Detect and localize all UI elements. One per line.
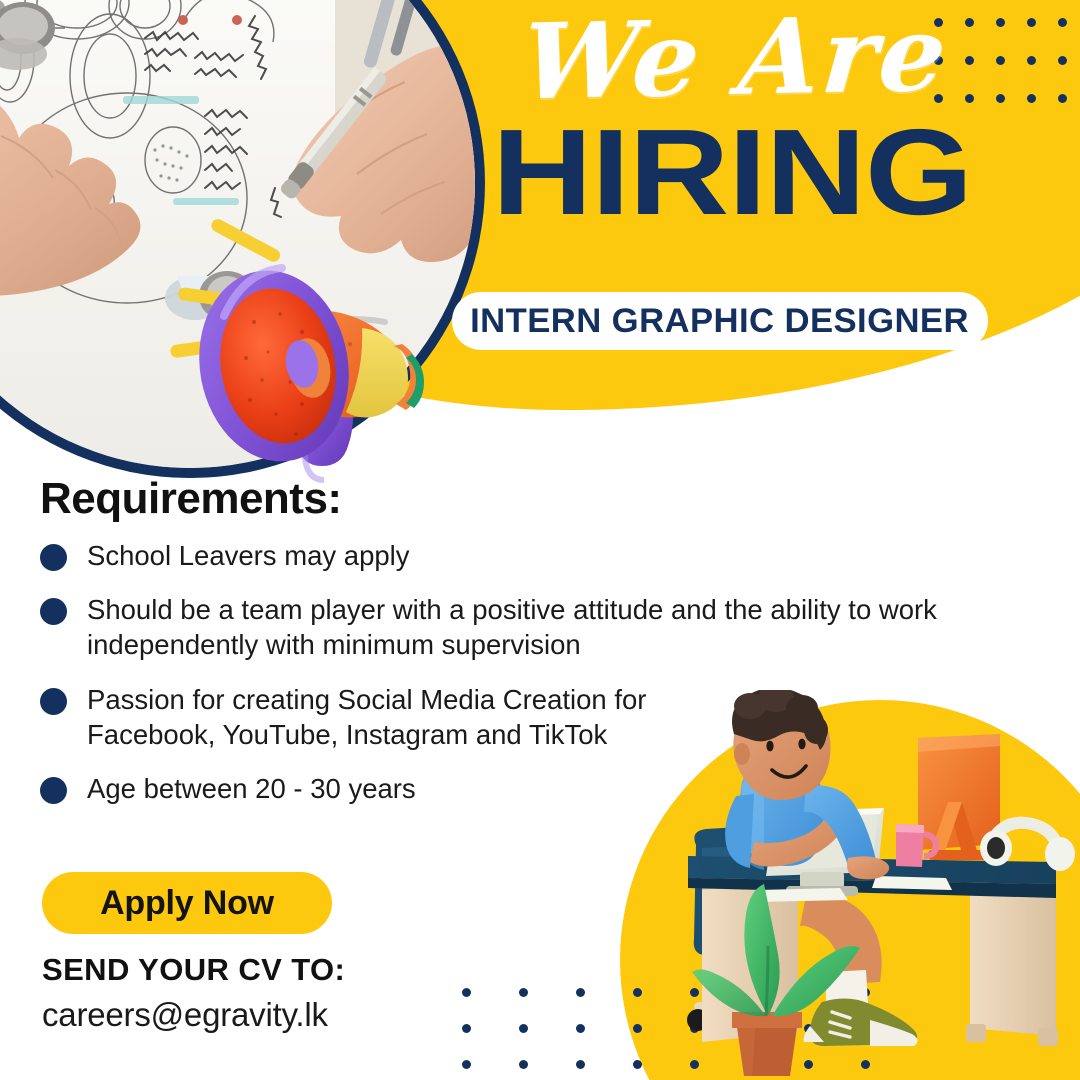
page-title: HIRING: [413, 116, 1051, 228]
requirement-text: Age between 20 - 30 years: [87, 771, 416, 806]
job-role-label: INTERN GRAPHIC DESIGNER: [471, 302, 970, 341]
bullet-icon: [40, 544, 67, 571]
megaphone-icon: [150, 218, 490, 483]
dot: [519, 1024, 528, 1033]
dot: [633, 988, 642, 997]
requirement-text: School Leavers may apply: [87, 538, 410, 573]
bullet-icon: [40, 598, 67, 625]
list-item: Should be a team player with a positive …: [40, 592, 1000, 662]
apply-now-button[interactable]: Apply Now: [42, 872, 332, 934]
dot: [576, 1024, 585, 1033]
requirements-heading: Requirements:: [40, 474, 342, 524]
dot: [633, 1024, 642, 1033]
dot: [1058, 94, 1067, 103]
hiring-poster: We Are HIRING INTERN GRAPHIC DESIGNER Re…: [0, 0, 1080, 1080]
requirement-text: Passion for creating Social Media Creati…: [87, 682, 647, 752]
dot: [576, 988, 585, 997]
dot: [633, 1060, 642, 1069]
requirement-text: Should be a team player with a positive …: [87, 592, 987, 662]
dot: [1058, 56, 1067, 65]
list-item: School Leavers may apply: [40, 538, 1000, 573]
dot: [519, 1060, 528, 1069]
dot: [576, 1060, 585, 1069]
dot: [462, 988, 471, 997]
dot: [462, 1024, 471, 1033]
headline-script: We Are: [453, 0, 1017, 116]
bullet-icon: [40, 688, 67, 715]
bullet-icon: [40, 777, 67, 804]
dot: [1027, 94, 1036, 103]
dot: [462, 1060, 471, 1069]
job-role-badge: INTERN GRAPHIC DESIGNER: [452, 292, 988, 350]
person-at-desk-illustration: [680, 690, 1080, 1080]
send-cv-label: SEND YOUR CV TO:: [42, 952, 345, 988]
dot: [519, 988, 528, 997]
dot: [1027, 18, 1036, 27]
contact-email[interactable]: careers@egravity.lk: [42, 996, 328, 1034]
dot: [1027, 56, 1036, 65]
dot: [1058, 18, 1067, 27]
headline-block: We Are HIRING: [452, 6, 1012, 228]
